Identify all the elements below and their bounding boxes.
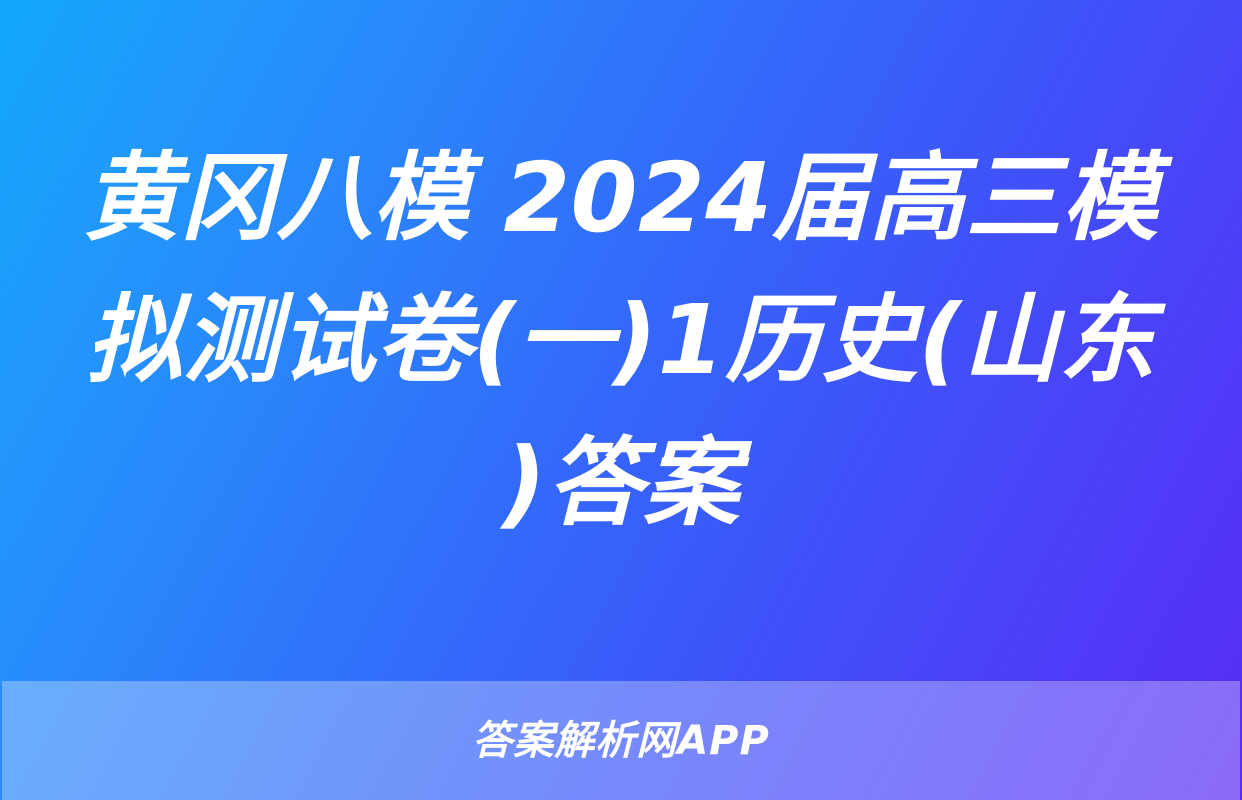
headline-line-1: 黄冈八模 2024届高三模 <box>70 127 1172 269</box>
headline-line-3: )答案 <box>70 412 1172 554</box>
headline-text-group: 黄冈八模 2024届高三模 拟测试卷(一)1历史(山东 )答案 <box>70 127 1172 553</box>
headline-line-2: 拟测试卷(一)1历史(山东 <box>70 269 1172 411</box>
app-watermark-label: 答案解析网APP <box>472 721 770 761</box>
footer-watermark-band: 答案解析网APP <box>2 681 1240 800</box>
headline-block: 黄冈八模 2024届高三模 拟测试卷(一)1历史(山东 )答案 <box>0 0 1242 681</box>
poster-canvas: 黄冈八模 2024届高三模 拟测试卷(一)1历史(山东 )答案 答案解析网APP <box>0 0 1242 800</box>
